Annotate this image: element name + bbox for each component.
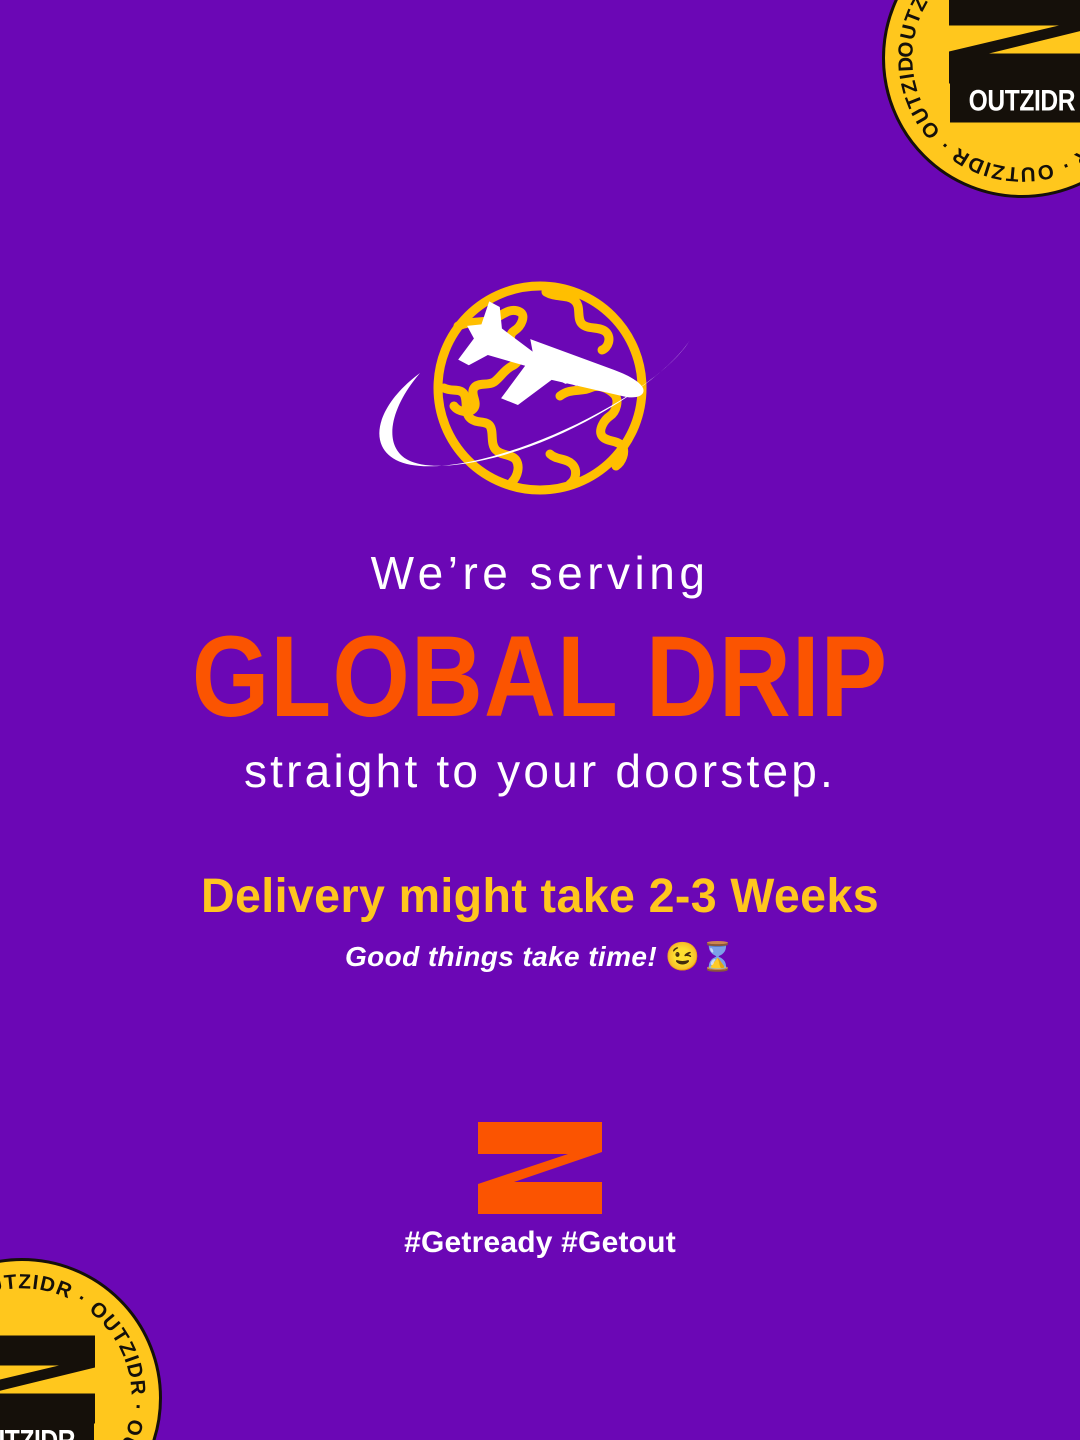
delivery-estimate-text: Delivery might take 2-3 Weeks bbox=[16, 871, 1064, 924]
headline-pre-text: We’re serving bbox=[0, 548, 1080, 600]
outzidr-badge-bottom-left: OUTZIDR · OUTZIDR · OUTZIDR · OUTZIDR · … bbox=[0, 1258, 162, 1440]
headline-post-text: straight to your doorstep. bbox=[0, 746, 1080, 797]
z-monogram-icon bbox=[947, 0, 1080, 86]
delivery-subtext: Good things take time! 😉⌛ bbox=[0, 942, 1080, 973]
badge-center-lockup: OUTZIDR bbox=[0, 1334, 106, 1440]
badge-wordmark-text: OUTZIDR bbox=[0, 1427, 75, 1440]
hashtags-text: #Getready #Getout bbox=[404, 1228, 676, 1258]
headline-main-text: GLOBAL DRIP bbox=[0, 610, 1080, 745]
delivery-subtext-label: Good things take time! bbox=[345, 941, 657, 972]
globe-with-airplane-icon bbox=[360, 278, 720, 513]
badge-wordmark: OUTZIDR bbox=[0, 1422, 94, 1440]
z-monogram-icon bbox=[478, 1122, 602, 1214]
badge-wordmark-text: OUTZIDR bbox=[969, 87, 1075, 117]
brand-footer: #Getready #Getout bbox=[0, 1122, 1080, 1258]
outzidr-badge-top-right: OUTZIDR · OUTZIDR · OUTZIDR · OUTZIDR · … bbox=[882, 0, 1080, 198]
badge-center-lockup: OUTZIDR bbox=[938, 0, 1080, 123]
wink-hourglass-emoji: 😉⌛ bbox=[665, 941, 735, 972]
badge-wordmark: OUTZIDR bbox=[950, 82, 1080, 123]
z-monogram-icon bbox=[0, 1334, 97, 1426]
headline-block: We’re serving GLOBAL DRIP straight to yo… bbox=[0, 548, 1080, 973]
poster-canvas: OUTZIDR · OUTZIDR · OUTZIDR · OUTZIDR · … bbox=[0, 0, 1080, 1440]
